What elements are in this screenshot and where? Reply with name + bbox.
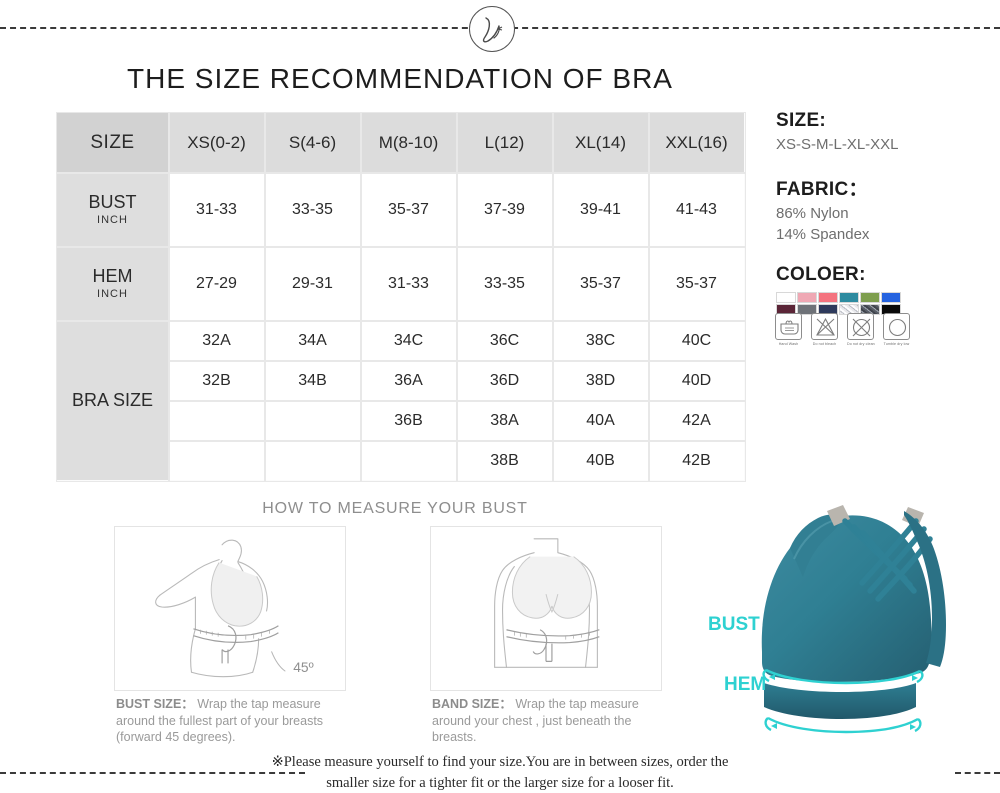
size-value: XS-S-M-L-XL-XXL [776, 135, 986, 155]
cell-hem-xxl: 35-37 [649, 247, 745, 321]
torso-bending-45-degrees-diagram-icon: 45º [115, 527, 345, 690]
size-info-block: SIZE: XS-S-M-L-XL-XXL [776, 110, 986, 155]
product-info-panel: SIZE: XS-S-M-L-XL-XXL FABRIC： 86% Nylon … [776, 110, 986, 334]
fabric-line-nylon: 86% Nylon [776, 204, 986, 224]
cell-bust-l: 37-39 [457, 173, 553, 247]
header-cell-l: L(12) [457, 113, 553, 173]
care-item-do-not-bleach: Do not bleach [811, 313, 838, 346]
color-heading: COLOER: [776, 264, 986, 286]
row-label-bust-text: BUST [88, 192, 136, 212]
torso-front-band-measure-diagram-icon [431, 527, 661, 690]
cell-bra-3-xxl: 42A [649, 401, 745, 441]
bust-measure-diagram: 45º [114, 526, 346, 691]
cell-bra-3-l: 38A [457, 401, 553, 441]
cell-bra-3-m: 36B [361, 401, 457, 441]
table-row-hem: HEM INCH 27-29 29-31 31-33 33-35 35-37 3… [57, 247, 745, 321]
cell-bra-1-xxl: 40C [649, 321, 745, 361]
swatch-teal[interactable] [839, 292, 859, 303]
cell-bra-1-s: 34A [265, 321, 361, 361]
cell-hem-m: 31-33 [361, 247, 457, 321]
cell-bust-xxl: 41-43 [649, 173, 745, 247]
header-cell-xxl: XXL(16) [649, 113, 745, 173]
cell-bust-s: 33-35 [265, 173, 361, 247]
cell-hem-xl: 35-37 [553, 247, 649, 321]
cell-bra-2-m: 36A [361, 361, 457, 401]
row-label-bust-unit: INCH [58, 214, 167, 226]
cell-bra-2-s: 34B [265, 361, 361, 401]
cell-bra-3-s [265, 401, 361, 441]
header-cell-xl: XL(14) [553, 113, 649, 173]
cell-bra-3-xl: 40A [553, 401, 649, 441]
swatch-blue[interactable] [881, 292, 901, 303]
tumble-dry-low-icon [883, 313, 910, 340]
cell-bra-4-m [361, 441, 457, 481]
swatch-olive[interactable] [860, 292, 880, 303]
fabric-heading: FABRIC： [776, 174, 986, 201]
script-l-monogram-logo-icon [470, 7, 516, 53]
size-heading: SIZE: [776, 110, 986, 132]
row-label-hem-text: HEM [93, 266, 133, 286]
cell-hem-s: 29-31 [265, 247, 361, 321]
cell-bra-3-xs [169, 401, 265, 441]
cell-bra-2-l: 36D [457, 361, 553, 401]
swatch-white[interactable] [776, 292, 796, 303]
care-item-tumble-dry-low: Tumble dry low [883, 313, 910, 346]
cell-hem-l: 33-35 [457, 247, 553, 321]
cell-bra-4-xxl: 42B [649, 441, 745, 481]
size-chart-table: SIZE XS(0-2) S(4-6) M(8-10) L(12) XL(14)… [56, 112, 745, 481]
bust-measure-caption: BUST SIZE： Wrap the tap measure around t… [116, 696, 341, 746]
cell-bra-4-xs [169, 441, 265, 481]
bust-caption-label: BUST SIZE： [116, 697, 194, 711]
header-cell-xs: XS(0-2) [169, 113, 265, 173]
row-label-bra-size: BRA SIZE [57, 321, 169, 481]
table-header-row: SIZE XS(0-2) S(4-6) M(8-10) L(12) XL(14)… [57, 113, 745, 173]
cell-bust-m: 35-37 [361, 173, 457, 247]
cell-bra-4-l: 38B [457, 441, 553, 481]
care-label-hand-wash: Hand Wash [775, 342, 802, 346]
cell-hem-xs: 27-29 [169, 247, 265, 321]
header-cell-size: SIZE [57, 113, 169, 173]
cell-bra-2-xs: 32B [169, 361, 265, 401]
brand-logo [469, 6, 515, 52]
page-title: THE SIZE RECOMMENDATION OF BRA [0, 63, 800, 95]
cell-bust-xs: 31-33 [169, 173, 265, 247]
cell-bra-2-xxl: 40D [649, 361, 745, 401]
do-not-dry-clean-icon [847, 313, 874, 340]
do-not-bleach-icon [811, 313, 838, 340]
angle-label-45: 45º [293, 659, 313, 675]
cell-bra-1-l: 36C [457, 321, 553, 361]
care-item-hand-wash: Hand Wash [775, 313, 802, 346]
band-caption-label: BAND SIZE： [432, 697, 512, 711]
swatch-pink[interactable] [797, 292, 817, 303]
row-label-hem-unit: INCH [58, 288, 167, 300]
header-cell-m: M(8-10) [361, 113, 457, 173]
fabric-info-block: FABRIC： 86% Nylon 14% Spandex [776, 174, 986, 245]
care-label-tumble-dry-low: Tumble dry low [883, 342, 910, 346]
hand-wash-icon [775, 313, 802, 340]
fabric-line-spandex: 14% Spandex [776, 225, 986, 245]
row-label-hem: HEM INCH [57, 247, 169, 321]
band-measure-diagram [430, 526, 662, 691]
cell-bra-2-xl: 38D [553, 361, 649, 401]
cell-bra-1-xs: 32A [169, 321, 265, 361]
teal-sports-bra-photo-icon: BUST HEM [690, 487, 1000, 752]
color-info-block: COLOER: [776, 264, 986, 315]
cell-bust-xl: 39-41 [553, 173, 649, 247]
product-bust-label: BUST [708, 614, 760, 635]
table-row-bra-size-1: BRA SIZE 32A 34A 34C 36C 38C 40C [57, 321, 745, 361]
product-hem-label: HEM [724, 674, 766, 695]
care-item-do-not-dry-clean: Do not dry clean [847, 313, 874, 346]
cell-bra-1-m: 34C [361, 321, 457, 361]
table-row-bust: BUST INCH 31-33 33-35 35-37 37-39 39-41 … [57, 173, 745, 247]
header-cell-s: S(4-6) [265, 113, 361, 173]
swatch-coral[interactable] [818, 292, 838, 303]
cell-bra-1-xl: 38C [553, 321, 649, 361]
color-swatch-grid [776, 292, 986, 315]
care-label-do-not-dry-clean: Do not dry clean [847, 342, 874, 346]
measure-section-heading: HOW TO MEASURE YOUR BUST [0, 500, 790, 518]
footnote: ※Please measure yourself to find your si… [250, 752, 750, 793]
row-label-bust: BUST INCH [57, 173, 169, 247]
band-measure-caption: BAND SIZE： Wrap the tap measure around y… [432, 696, 657, 746]
care-label-do-not-bleach: Do not bleach [811, 342, 838, 346]
cell-bra-4-s [265, 441, 361, 481]
product-photo: BUST HEM [690, 487, 1000, 752]
cell-bra-4-xl: 40B [553, 441, 649, 481]
care-instructions-row: Hand Wash Do not bleach Do not dry clean… [775, 313, 910, 346]
bottom-divider-right [955, 772, 1000, 774]
